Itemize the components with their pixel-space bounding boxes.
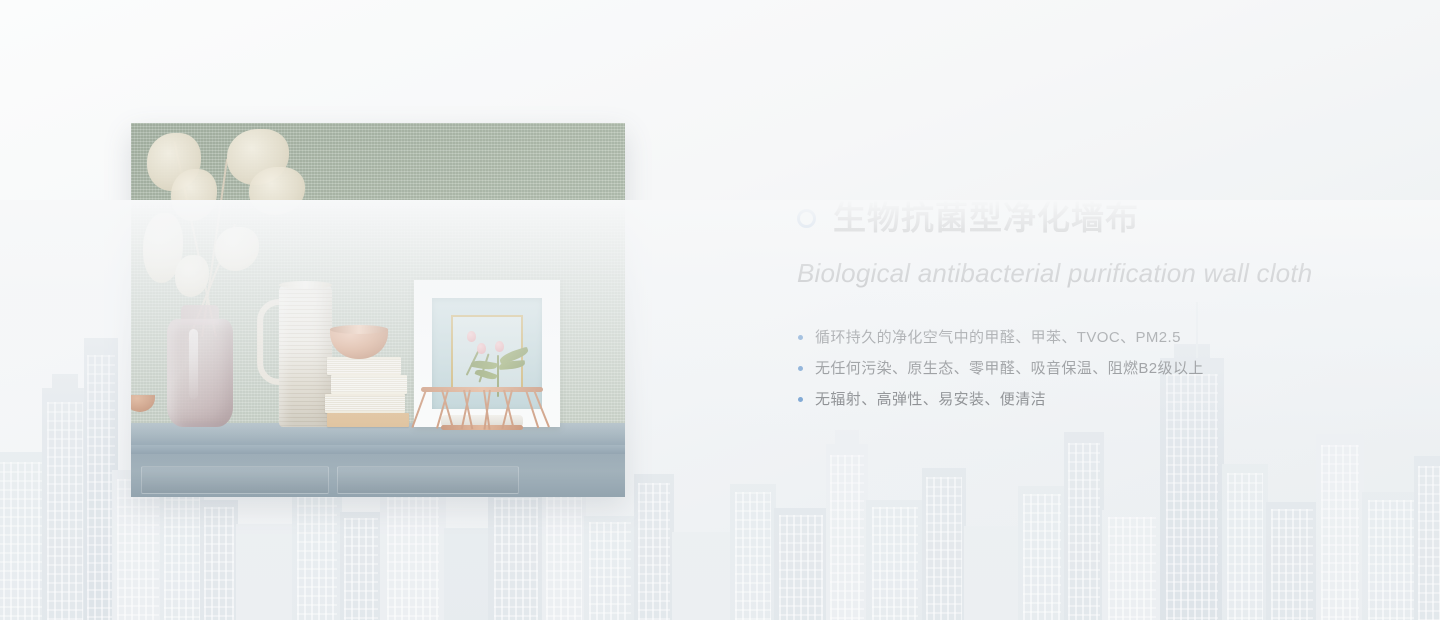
list-item: 无辐射、高弹性、易安装、便清洁 [797, 384, 1397, 415]
sideboard-body [131, 454, 625, 497]
feature-list: 循环持久的净化空气中的甲醛、甲苯、TVOC、PM2.5 无任何污染、原生态、零甲… [797, 322, 1397, 415]
sideboard-edge [131, 445, 625, 454]
product-photo[interactable] [131, 123, 625, 497]
glass-vase [167, 319, 233, 427]
pitcher-lip [279, 281, 332, 289]
page-subtitle: Biological antibacterial purification wa… [797, 258, 1397, 289]
copper-wire-basket [421, 387, 543, 430]
photo-scene [131, 123, 625, 497]
title-row: 生物抗菌型净化墙布 [797, 196, 1397, 240]
product-banner: 生物抗菌型净化墙布 Biological antibacterial purif… [0, 0, 1440, 620]
copper-bowl-rim [330, 325, 388, 334]
circle-outline-icon [797, 209, 816, 228]
botanical-artwork [451, 315, 523, 390]
list-item: 循环持久的净化空气中的甲醛、甲苯、TVOC、PM2.5 [797, 322, 1397, 353]
page-title: 生物抗菌型净化墙布 [833, 200, 1139, 236]
vase-highlight [189, 329, 198, 399]
list-item: 无任何污染、原生态、零甲醛、吸音保温、阻燃B2级以上 [797, 353, 1397, 384]
product-info: 生物抗菌型净化墙布 Biological antibacterial purif… [797, 196, 1397, 431]
